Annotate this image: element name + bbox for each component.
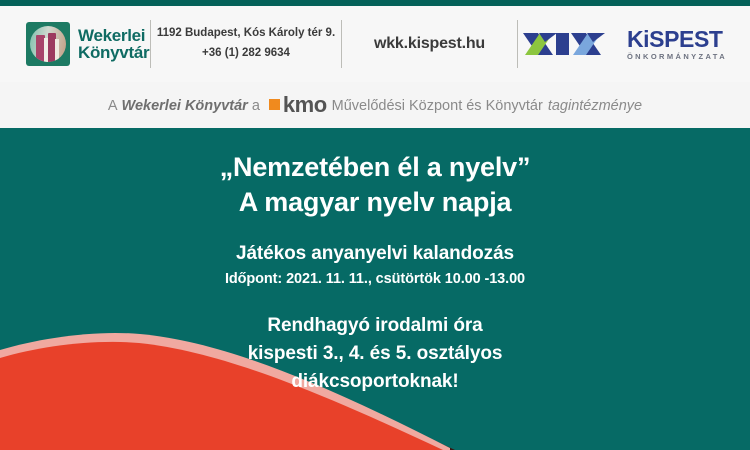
orange-square-icon <box>269 99 280 110</box>
brand-name-line2: Könyvtár <box>78 44 149 61</box>
kispest-logo: KiSPEST ÖNKORMÁNYZATA <box>518 28 750 61</box>
audience-line2: kispesti 3., 4. és 5. osztályos <box>0 340 750 368</box>
poster-canvas: Wekerlei Könyvtár 1192 Budapest, Kós Kár… <box>0 0 750 450</box>
poster-title-line1: „Nemzetében él a nyelv” <box>0 150 750 185</box>
poster-body: „Nemzetében él a nyelv” A magyar nyelv n… <box>0 128 750 450</box>
poster-lead: Játékos anyanyelvi kalandozás <box>0 243 750 265</box>
brand-name-line1: Wekerlei <box>78 27 149 44</box>
brand-block: Wekerlei Könyvtár <box>0 22 150 66</box>
xix-chevron-logo-icon <box>523 29 619 59</box>
kispest-wordmark: KiSPEST ÖNKORMÁNYZATA <box>627 28 727 61</box>
kispest-subtitle: ÖNKORMÁNYZATA <box>627 53 727 61</box>
affiliation-prefix: A <box>108 98 118 114</box>
logo-disc <box>30 26 66 62</box>
poster-title-line2: A magyar nyelv napja <box>0 185 750 220</box>
affiliation-strip: A Wekerlei Könyvtár a kmo Művelődési Köz… <box>0 82 750 128</box>
audience-line3: diákcsoportoknak! <box>0 368 750 396</box>
poster-datetime: Időpont: 2021. 11. 11., csütörtök 10.00 … <box>0 271 750 287</box>
website-url[interactable]: wkk.kispest.hu <box>342 35 517 53</box>
poster-header: Wekerlei Könyvtár 1192 Budapest, Kós Kár… <box>0 6 750 82</box>
poster-copy: „Nemzetében él a nyelv” A magyar nyelv n… <box>0 128 750 396</box>
affiliation-parent-org: Művelődési Központ és Könyvtár <box>332 98 543 114</box>
brand-name: Wekerlei Könyvtár <box>78 27 149 62</box>
kispest-name: KiSPEST <box>627 28 727 51</box>
affiliation-text: A Wekerlei Könyvtár a kmo Művelődési Köz… <box>108 96 642 114</box>
contact-block: 1192 Budapest, Kós Károly tér 9. +36 (1)… <box>151 24 341 63</box>
kmo-logo: kmo <box>269 96 327 114</box>
library-books-logo-icon <box>26 22 70 66</box>
kmo-label: kmo <box>283 96 327 114</box>
phone-number: +36 (1) 282 9634 <box>151 44 341 64</box>
poster-audience: Rendhagyó irodalmi óra kispesti 3., 4. é… <box>0 312 750 396</box>
affiliation-suffix: tagintézménye <box>548 98 642 114</box>
address-line: 1192 Budapest, Kós Károly tér 9. <box>151 24 341 44</box>
audience-line1: Rendhagyó irodalmi óra <box>0 312 750 340</box>
affiliation-institution: Wekerlei Könyvtár <box>122 98 248 114</box>
affiliation-connector: a <box>252 98 260 114</box>
logo-book-4 <box>55 39 59 62</box>
